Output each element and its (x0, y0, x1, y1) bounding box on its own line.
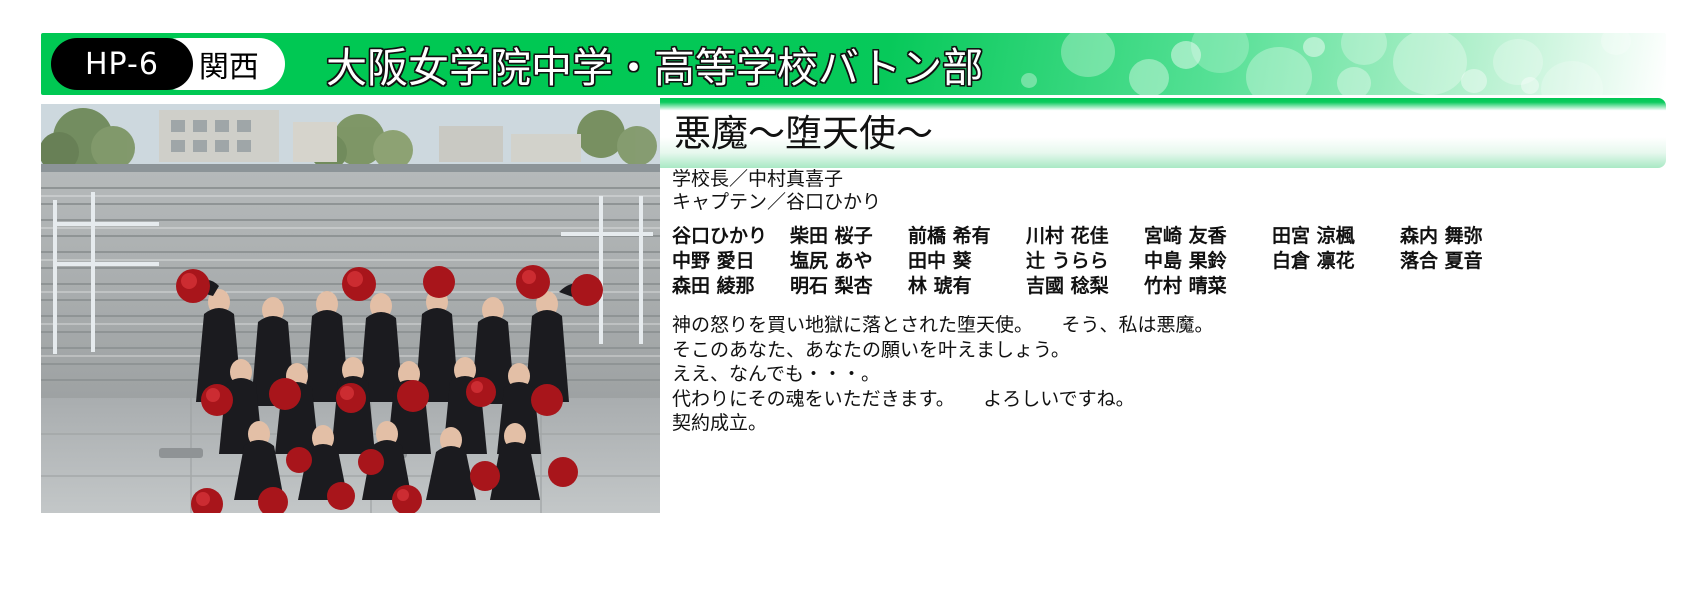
member-name: 前橋 希有 (908, 224, 1026, 249)
member-name: 竹村 晴菜 (1144, 274, 1272, 299)
bokeh-circle-icon (1129, 59, 1169, 95)
bokeh-circle-icon (1521, 77, 1539, 94)
bokeh-circle-icon (1246, 47, 1312, 95)
member-name: 田中 葵 (908, 249, 1026, 274)
code-badge: HP-6 (51, 38, 193, 90)
header-bar: HP-6関西 大阪女学院中学・高等学校バトン部 (41, 33, 1666, 95)
member-name: 白倉 凛花 (1272, 249, 1400, 274)
description-line: 契約成立。 (672, 411, 1672, 436)
bokeh-circle-icon (1341, 33, 1387, 65)
bokeh-circle-icon (1541, 61, 1603, 95)
principal-line: 学校長／中村真喜子 (672, 168, 1672, 191)
member-name: 谷口ひかり (672, 224, 790, 249)
member-name: 落合 夏音 (1400, 249, 1518, 274)
description-line: そこのあなた、あなたの願いを叶えましょう。 (672, 338, 1672, 363)
team-photo (41, 104, 660, 513)
description-line: 神の怒りを買い地獄に落とされた堕天使。 そう、私は悪魔。 (672, 313, 1672, 338)
member-name: 川村 花佳 (1026, 224, 1144, 249)
bokeh-circle-icon (1021, 73, 1037, 88)
page-title: 大阪女学院中学・高等学校バトン部 (326, 35, 983, 93)
member-name: 森田 綾那 (672, 274, 790, 299)
member-row: 森田 綾那 明石 梨杏 林 琥有 吉國 稔梨 竹村 晴菜 (672, 274, 1672, 299)
bokeh-circle-icon (1461, 69, 1487, 93)
member-name: 宮崎 友香 (1144, 224, 1272, 249)
member-name: 柴田 桜子 (790, 224, 908, 249)
member-row: 中野 愛日 塩尻 あや 田中 葵 辻 うらら 中島 果鈴 白倉 凛花 落合 夏音 (672, 249, 1672, 274)
badge-group: HP-6関西 (51, 38, 285, 90)
bokeh-circle-icon (1303, 37, 1325, 57)
bokeh-circle-icon (1061, 33, 1115, 77)
member-name: 辻 うらら (1026, 249, 1144, 274)
member-row: 谷口ひかり 柴田 桜子 前橋 希有 川村 花佳 宮崎 友香 田宮 涼楓 森内 舞… (672, 224, 1672, 249)
bokeh-circle-icon (1337, 67, 1371, 95)
member-name: 林 琥有 (908, 274, 1026, 299)
bokeh-circle-icon (1171, 41, 1201, 69)
description-line: 代わりにその魂をいただきます。 よろしいですね。 (672, 387, 1672, 412)
member-name: 中島 果鈴 (1144, 249, 1272, 274)
member-name: 明石 梨杏 (790, 274, 908, 299)
description-line: ええ、なんでも・・・。 (672, 362, 1672, 387)
member-name: 吉國 稔梨 (1026, 274, 1144, 299)
member-name: 田宮 涼楓 (1272, 224, 1400, 249)
captain-line: キャプテン／谷口ひかり (672, 191, 1672, 214)
member-list: 谷口ひかり 柴田 桜子 前橋 希有 川村 花佳 宮崎 友香 田宮 涼楓 森内 舞… (672, 224, 1672, 299)
program-title: 悪魔～堕天使～ (674, 104, 1274, 156)
member-name: 森内 舞弥 (1400, 224, 1518, 249)
description-block: 神の怒りを買い地獄に落とされた堕天使。 そう、私は悪魔。 そこのあなた、あなたの… (672, 313, 1672, 436)
bokeh-circle-icon (1601, 33, 1631, 55)
member-name: 中野 愛日 (672, 249, 790, 274)
member-name: 塩尻 あや (790, 249, 908, 274)
bokeh-circle-icon (1393, 33, 1467, 95)
performance-profile-card: HP-6関西 大阪女学院中学・高等学校バトン部 悪魔～堕天使～ (0, 0, 1707, 607)
program-details: 学校長／中村真喜子 キャプテン／谷口ひかり 谷口ひかり 柴田 桜子 前橋 希有 … (672, 168, 1672, 436)
